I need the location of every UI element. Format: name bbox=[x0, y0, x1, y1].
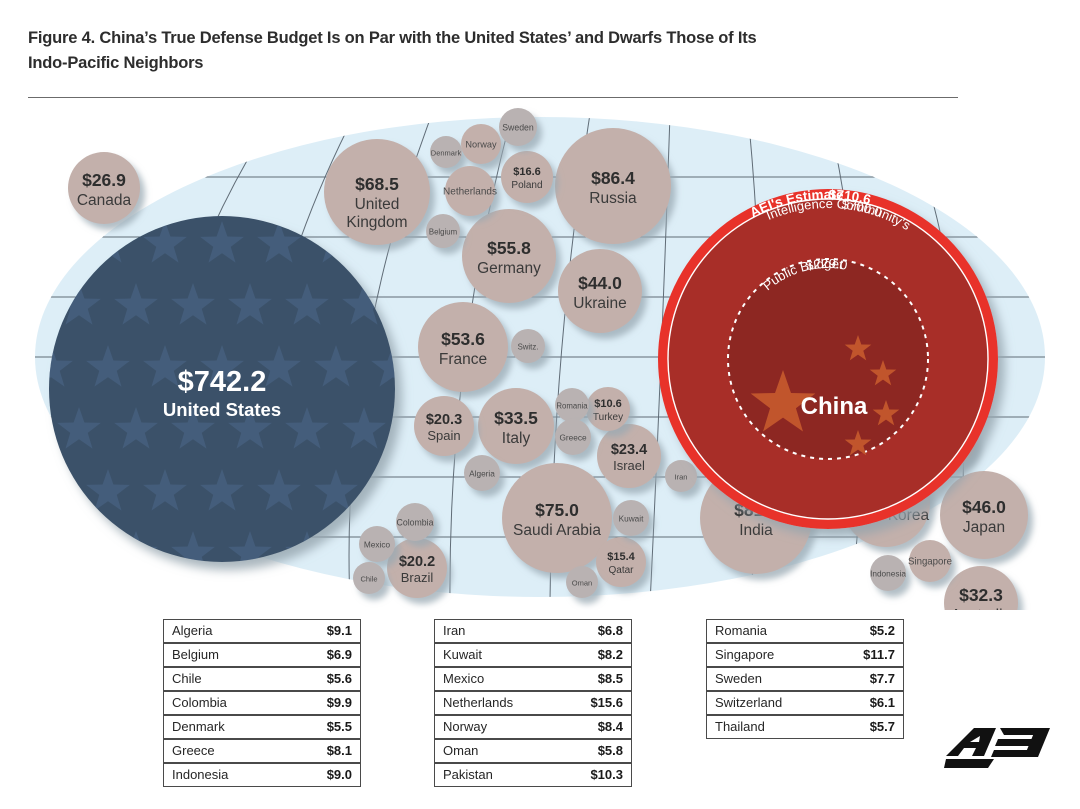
table-amount: $15.6 bbox=[590, 695, 623, 710]
table-row: Greece$8.1 bbox=[163, 739, 361, 763]
bubble-canada[interactable]: $26.9Canada bbox=[68, 152, 140, 224]
bubble-label: United bbox=[355, 196, 400, 213]
bubble-brazil[interactable]: $20.2Brazil bbox=[387, 538, 447, 598]
bubble-sweden[interactable]: Sweden bbox=[499, 108, 537, 146]
table-row: Indonesia$9.0 bbox=[163, 763, 361, 787]
table-amount: $5.5 bbox=[327, 719, 352, 734]
table-row: Mexico$8.5 bbox=[434, 667, 632, 691]
table-amount: $6.8 bbox=[598, 623, 623, 638]
table-amount: $8.1 bbox=[327, 743, 352, 758]
bubble-label: Brazil bbox=[401, 570, 434, 585]
bubble-label: Switz. bbox=[518, 343, 539, 352]
table-country: Colombia bbox=[172, 695, 227, 710]
table-country: Mexico bbox=[443, 671, 484, 686]
table-row: Romania$5.2 bbox=[706, 619, 904, 643]
bubble-kuwait[interactable]: Kuwait bbox=[613, 500, 649, 536]
table-amount: $9.9 bbox=[327, 695, 352, 710]
table-amount: $7.7 bbox=[870, 671, 895, 686]
china-label: China bbox=[801, 393, 868, 420]
bubble-saudi-arabia[interactable]: $75.0Saudi Arabia bbox=[502, 463, 612, 573]
bubble-indonesia[interactable]: Indonesia bbox=[870, 555, 906, 591]
bubble-chart: $742.2United States$26.9Canada$68.5Unite… bbox=[0, 104, 1080, 610]
infographic-page: Figure 4. China’s True Defense Budget Is… bbox=[0, 0, 1080, 809]
aei-logo-mark bbox=[944, 726, 1052, 772]
bubble-japan[interactable]: $46.0Japan bbox=[940, 471, 1028, 559]
table-country: Singapore bbox=[715, 647, 774, 662]
table-country: Denmark bbox=[172, 719, 225, 734]
table-country: Belgium bbox=[172, 647, 219, 662]
bubble-label: Poland bbox=[511, 180, 542, 191]
table-amount: $10.3 bbox=[590, 767, 623, 782]
bubble-value: $33.5 bbox=[494, 408, 538, 428]
star-icon bbox=[29, 469, 73, 511]
bubble-poland[interactable]: $16.6Poland bbox=[501, 151, 553, 203]
bubble-value: $46.0 bbox=[962, 497, 1006, 517]
bubble-spain[interactable]: $20.3Spain bbox=[414, 396, 474, 456]
bubble-chile[interactable]: Chile bbox=[353, 562, 385, 594]
bubble-label: Indonesia bbox=[870, 570, 906, 579]
table-row: Iran$6.8 bbox=[434, 619, 632, 643]
table-country: Switzerland bbox=[715, 695, 782, 710]
bubble-value: $15.4 bbox=[607, 551, 635, 563]
bubble-colombia[interactable]: Colombia bbox=[396, 503, 434, 541]
table-amount: $5.7 bbox=[870, 719, 895, 734]
table-country: Chile bbox=[172, 671, 202, 686]
bubble-label: Chile bbox=[360, 575, 377, 584]
table-amount: $6.1 bbox=[870, 695, 895, 710]
reference-table-3: Romania$5.2Singapore$11.7Sweden$7.7Switz… bbox=[706, 619, 904, 739]
table-amount: $5.6 bbox=[327, 671, 352, 686]
bubble-value: $16.6 bbox=[513, 166, 541, 178]
bubble-label: Netherlands bbox=[443, 187, 497, 198]
bubble-value: $20.3 bbox=[426, 412, 462, 428]
table-country: Kuwait bbox=[443, 647, 482, 662]
bubble-label: Mexico bbox=[364, 541, 391, 550]
table-amount: $9.0 bbox=[327, 767, 352, 782]
bubble-label: Sweden bbox=[502, 123, 534, 133]
table-row: Colombia$9.9 bbox=[163, 691, 361, 715]
table-amount: $8.4 bbox=[598, 719, 623, 734]
bubble-label: Colombia bbox=[397, 518, 434, 528]
table-row: Singapore$11.7 bbox=[706, 643, 904, 667]
table-row: Thailand$5.7 bbox=[706, 715, 904, 739]
bubble-chart-svg: $742.2United States$26.9Canada$68.5Unite… bbox=[0, 104, 1080, 610]
bubble-greece[interactable]: Greece bbox=[555, 419, 591, 455]
star-icon bbox=[57, 531, 101, 573]
bubble-value: $23.4 bbox=[611, 442, 647, 458]
bubble-oman[interactable]: Oman bbox=[566, 566, 598, 598]
table-row: Algeria$9.1 bbox=[163, 619, 361, 643]
bubble-label: Denmark bbox=[431, 149, 462, 158]
bubble-label: Spain bbox=[427, 428, 460, 443]
bubble-label: India bbox=[739, 522, 773, 539]
bubble-label: Norway bbox=[465, 140, 497, 150]
bubble-label: Australia bbox=[951, 607, 1012, 610]
china-ring-value-public-budget: $229.0 bbox=[805, 256, 849, 273]
bubble-label: Kingdom bbox=[346, 214, 407, 231]
bubble-label: Iran bbox=[675, 473, 688, 482]
bubble-value: $32.3 bbox=[959, 585, 1003, 605]
table-country: Oman bbox=[443, 743, 478, 758]
table-amount: $8.5 bbox=[598, 671, 623, 686]
table-row: Belgium$6.9 bbox=[163, 643, 361, 667]
table-row: Switzerland$6.1 bbox=[706, 691, 904, 715]
bubble-value: $55.8 bbox=[487, 238, 531, 258]
bubble-label: Japan bbox=[963, 519, 1005, 536]
bubble-iran[interactable]: Iran bbox=[665, 460, 697, 492]
table-row: Sweden$7.7 bbox=[706, 667, 904, 691]
bubble-label: Canada bbox=[77, 192, 132, 209]
bubble-russia[interactable]: $86.4Russia bbox=[555, 128, 671, 244]
bubble-singapore[interactable]: Singapore bbox=[908, 540, 952, 582]
table-row: Oman$5.8 bbox=[434, 739, 632, 763]
bubble-label: Turkey bbox=[593, 412, 623, 423]
table-row: Norway$8.4 bbox=[434, 715, 632, 739]
bubble-value: $44.0 bbox=[578, 273, 622, 293]
china-ring-public-budget[interactable] bbox=[728, 259, 928, 459]
bubble-label: Romania bbox=[556, 402, 588, 411]
bubble-label: Israel bbox=[613, 458, 645, 473]
table-row: Chile$5.6 bbox=[163, 667, 361, 691]
table-amount: $5.8 bbox=[598, 743, 623, 758]
table-amount: $6.9 bbox=[327, 647, 352, 662]
star-icon bbox=[29, 221, 73, 263]
bubble-label: Belgium bbox=[429, 228, 457, 237]
bubble-algeria[interactable]: Algeria bbox=[464, 455, 500, 491]
table-row: Denmark$5.5 bbox=[163, 715, 361, 739]
table-country: Sweden bbox=[715, 671, 762, 686]
aei-logo bbox=[944, 726, 1052, 772]
bubble-switz-[interactable]: Switz. bbox=[511, 329, 545, 363]
bubble-value: $86.4 bbox=[591, 168, 635, 188]
bubble-united-kingdom[interactable]: $68.5UnitedKingdom bbox=[324, 139, 430, 245]
bubble-label: Singapore bbox=[908, 557, 952, 568]
title-divider bbox=[28, 97, 958, 98]
bubble-turkey[interactable]: $10.6Turkey bbox=[586, 387, 630, 431]
bubble-australia[interactable]: $32.3Australia bbox=[944, 566, 1018, 610]
bubble-label: Russia bbox=[589, 190, 637, 207]
table-country: Iran bbox=[443, 623, 465, 638]
bubble-label: Oman bbox=[572, 579, 592, 588]
table-country: Thailand bbox=[715, 719, 765, 734]
bubble-value: $20.2 bbox=[399, 554, 435, 570]
table-country: Norway bbox=[443, 719, 487, 734]
bubble-romania[interactable]: Romania bbox=[555, 388, 589, 422]
table-row: Netherlands$15.6 bbox=[434, 691, 632, 715]
bubble-value: $10.6 bbox=[594, 398, 622, 410]
table-row: Pakistan$10.3 bbox=[434, 763, 632, 787]
table-country: Greece bbox=[172, 743, 215, 758]
table-country: Algeria bbox=[172, 623, 212, 638]
bubble-mexico[interactable]: Mexico bbox=[359, 526, 395, 562]
bubble-label: Algeria bbox=[469, 470, 495, 479]
page-title: Figure 4. China’s True Defense Budget Is… bbox=[28, 26, 958, 76]
bubble-label: Germany bbox=[477, 260, 541, 277]
bubble-label: France bbox=[439, 351, 487, 368]
bubble-value: $53.6 bbox=[441, 329, 485, 349]
bubble-israel[interactable]: $23.4Israel bbox=[597, 424, 661, 488]
bubble-value: $68.5 bbox=[355, 174, 399, 194]
title-line-1: Figure 4. China’s True Defense Budget Is… bbox=[28, 26, 958, 51]
table-amount: $9.1 bbox=[327, 623, 352, 638]
bubble-belgium[interactable]: Belgium bbox=[426, 214, 460, 248]
reference-table-1: Algeria$9.1Belgium$6.9Chile$5.6Colombia$… bbox=[163, 619, 361, 787]
table-amount: $8.2 bbox=[598, 647, 623, 662]
table-country: Pakistan bbox=[443, 767, 493, 782]
bubble-label: Qatar bbox=[608, 565, 634, 576]
title-line-2: Indo-Pacific Neighbors bbox=[28, 51, 958, 76]
bubble-france[interactable]: $53.6France bbox=[418, 302, 508, 392]
bubble-norway[interactable]: Norway bbox=[461, 124, 501, 164]
bubble-label: Saudi Arabia bbox=[513, 522, 601, 539]
bubble-qatar[interactable]: $15.4Qatar bbox=[596, 537, 646, 587]
table-amount: $5.2 bbox=[870, 623, 895, 638]
table-country: Netherlands bbox=[443, 695, 513, 710]
table-country: Indonesia bbox=[172, 767, 228, 782]
bubble-label: Italy bbox=[502, 430, 531, 447]
table-country: Romania bbox=[715, 623, 767, 638]
bubble-value: $742.2 bbox=[178, 366, 267, 398]
bubble-value: $75.0 bbox=[535, 500, 579, 520]
table-amount: $11.7 bbox=[863, 647, 895, 662]
bubble-label: United States bbox=[163, 399, 281, 420]
bubble-label: Greece bbox=[559, 434, 587, 443]
table-row: Kuwait$8.2 bbox=[434, 643, 632, 667]
bubble-denmark[interactable]: Denmark bbox=[430, 136, 462, 168]
bubble-italy[interactable]: $33.5Italy bbox=[478, 388, 554, 464]
bubble-germany[interactable]: $55.8Germany bbox=[462, 209, 556, 303]
bubble-label: Ukraine bbox=[573, 295, 626, 312]
bubble-value: $26.9 bbox=[82, 170, 126, 190]
reference-table-2: Iran$6.8Kuwait$8.2Mexico$8.5Netherlands$… bbox=[434, 619, 632, 787]
bubble-ukraine[interactable]: $44.0Ukraine bbox=[558, 249, 642, 333]
bubble-label: Kuwait bbox=[619, 515, 645, 524]
